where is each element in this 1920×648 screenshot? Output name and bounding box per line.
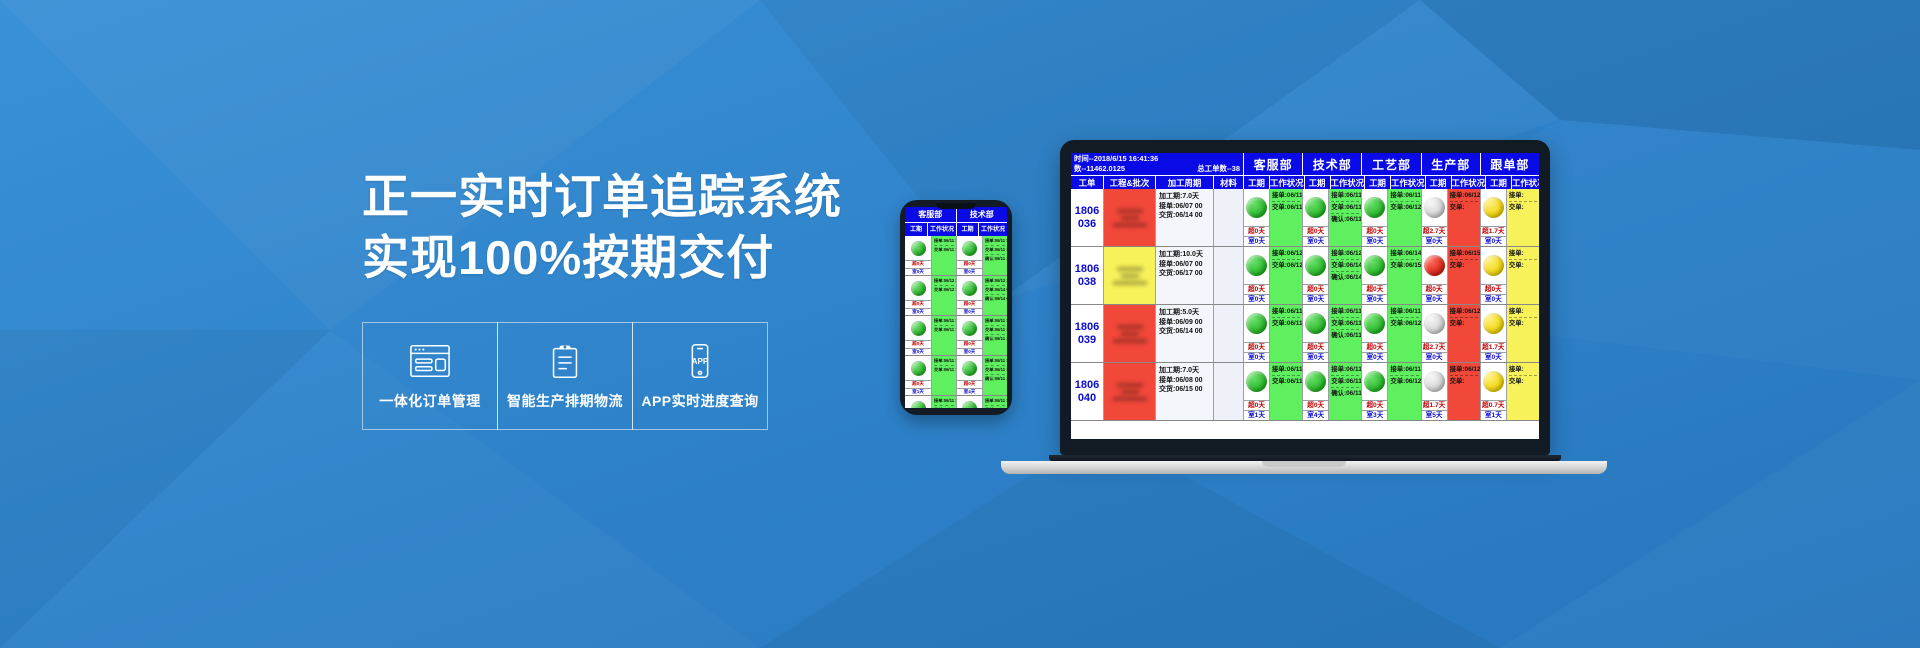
erp-title-row: 时间--2018/6/15 16:41:36 数--11462.0125 总工单… bbox=[1071, 153, 1539, 175]
status-cell-4[interactable]: 接单:交单: bbox=[1506, 247, 1539, 304]
qi-cell-0[interactable]: 超0天室1天 bbox=[1243, 363, 1269, 420]
order-number-cell[interactable]: 1806036 bbox=[1071, 189, 1103, 246]
status-lamp-gray[interactable] bbox=[1424, 197, 1445, 218]
status-cell-3[interactable]: 接单:06/12 09交单: bbox=[1447, 189, 1480, 246]
order-number-cell[interactable]: 1806039 bbox=[1071, 305, 1103, 362]
lamp-wrap bbox=[905, 236, 931, 260]
status-line-1: 交单:06/12 09 bbox=[1390, 377, 1418, 387]
cycle-line-2: 交货:06/17 00 bbox=[1159, 269, 1211, 279]
status-line-0: 接单:06/11 17 bbox=[1390, 307, 1418, 318]
overdue-tag: 超0天 bbox=[957, 260, 982, 268]
col-status-4: 工作状况 bbox=[1511, 176, 1539, 189]
status-line-1: 交单:06/11 17 bbox=[985, 367, 1005, 375]
qi-cell-2[interactable]: 超0天室3天 bbox=[1361, 363, 1387, 420]
status-line-0: 接单:06/11 17 bbox=[1331, 365, 1359, 376]
qi-cell-0[interactable]: 超0天室0天 bbox=[905, 396, 931, 408]
status-line-1: 交单:06/14 08 bbox=[1331, 261, 1359, 272]
table-row: 超0天室0天接单:06/11 17交单:06/11 17超0天室0天接单:06/… bbox=[905, 396, 1007, 408]
status-cell-0[interactable]: 接单:06/12 20交单:06/12 20 bbox=[1269, 247, 1302, 304]
overdue-tag: 超0天 bbox=[957, 340, 982, 348]
lamp-wrap bbox=[1481, 305, 1506, 342]
remaining-tag: 室0天 bbox=[1244, 352, 1269, 362]
phone-body: 客服部 技术部 工期 工作状况 工期 工作状况 超0天室0天接单:06/11 1… bbox=[900, 200, 1012, 415]
order-number-top: 1806 bbox=[1075, 379, 1099, 392]
order-number-cell[interactable]: 1806038 bbox=[1071, 247, 1103, 304]
overdue-tag: 超0天 bbox=[1244, 342, 1269, 352]
status-line-1: 交单:06/12 09 bbox=[1390, 319, 1418, 329]
status-lamp-green[interactable] bbox=[911, 361, 926, 376]
status-line-0: 接单:06/11 17 bbox=[1390, 191, 1418, 202]
overdue-tag: 超0天 bbox=[1362, 342, 1387, 352]
status-lamp-green[interactable] bbox=[1364, 255, 1385, 276]
status-cell-1[interactable]: 接单:06/12 20交单:06/14 08确认:06/14 08 bbox=[982, 276, 1007, 315]
status-cell-2[interactable]: 接单:06/14 08交单:06/15 16 bbox=[1387, 247, 1420, 304]
status-line-1: 交单:06/11 17 bbox=[1272, 377, 1300, 387]
dept-header-technology[interactable]: 技术部 bbox=[1302, 153, 1361, 175]
status-lamp-green[interactable] bbox=[1364, 197, 1385, 218]
qi-cell-0[interactable]: 超0天室0天 bbox=[905, 316, 931, 355]
qi-cell-4[interactable]: 超1.7天室0天 bbox=[1480, 305, 1506, 362]
col-qi-1: 工期 bbox=[1304, 176, 1330, 189]
status-line-1: 交单:06/11 17 bbox=[934, 367, 954, 374]
qi-cell-2[interactable]: 超0天室0天 bbox=[1361, 305, 1387, 362]
phone-dept-0[interactable]: 客服部 bbox=[905, 207, 956, 222]
lamp-wrap bbox=[1362, 363, 1387, 400]
cycle-line-0: 加工期:7.0天 bbox=[1159, 366, 1211, 376]
col-order: 工单 bbox=[1071, 176, 1103, 189]
status-line-1: 交单:06/11 17 bbox=[1272, 203, 1300, 213]
status-cell-2[interactable]: 接单:06/11 17交单:06/12 09 bbox=[1387, 363, 1420, 420]
status-line-1: 交单:06/11 17 bbox=[1272, 319, 1300, 329]
remaining-tag: 室0天 bbox=[1244, 236, 1269, 246]
qi-cell-2[interactable]: 超0天室0天 bbox=[1361, 247, 1387, 304]
project-batch-cell[interactable] bbox=[1103, 247, 1155, 304]
lamp-wrap bbox=[1422, 305, 1447, 342]
remaining-tag: 室0天 bbox=[957, 308, 982, 316]
status-line-1: 交单: bbox=[1509, 261, 1537, 271]
qi-cell-3[interactable]: 超0天室0天 bbox=[1421, 247, 1447, 304]
overdue-tag: 超0天 bbox=[905, 300, 931, 308]
status-lamp-yellow[interactable] bbox=[1483, 313, 1504, 334]
col-project: 工程&批次 bbox=[1103, 176, 1155, 189]
remaining-tag: 室0天 bbox=[1481, 236, 1506, 246]
phone-col-qi-0: 工期 bbox=[905, 223, 927, 236]
status-line-1: 交单:06/11 17 bbox=[934, 407, 954, 408]
page-title-line2: 实现100%按期交付 bbox=[362, 227, 922, 288]
material-cell[interactable] bbox=[1213, 363, 1243, 420]
status-line-1: 交单:06/11 17 bbox=[985, 327, 1005, 335]
status-cell-1[interactable]: 接单:06/11 17交单:06/11 17确认:06/11 17 bbox=[982, 356, 1007, 395]
status-line-1: 交单: bbox=[1450, 319, 1478, 329]
lamp-wrap bbox=[957, 276, 982, 300]
lamp-wrap bbox=[1481, 189, 1506, 226]
overdue-tag: 超0天 bbox=[1362, 400, 1387, 410]
clipboard-icon bbox=[544, 341, 586, 381]
hero-banner: 正一实时订单追踪系统 实现100%按期交付 一体化订单管理 bbox=[0, 0, 1920, 648]
qi-cell-3[interactable]: 超2.7天室0天 bbox=[1421, 305, 1447, 362]
status-cell-1[interactable]: 接单:06/12 20交单:06/14 08确认:06/14 08 bbox=[1328, 247, 1361, 304]
erp-total-orders-label: 总工单数--38 bbox=[1197, 164, 1240, 174]
erp-counter-label: 数--11462.0125 bbox=[1074, 164, 1125, 174]
qi-cell-1[interactable]: 超0天室0天 bbox=[1302, 189, 1328, 246]
status-line-1: 交单:06/12 20 bbox=[1272, 261, 1300, 271]
cycle-line-1: 接单:06/09 00 bbox=[1159, 318, 1211, 328]
col-material: 材料 bbox=[1213, 176, 1243, 189]
lamp-wrap bbox=[957, 396, 982, 408]
status-line-1: 交单:06/15 16 bbox=[1390, 261, 1418, 271]
qi-cell-1[interactable]: 超0天室0天 bbox=[956, 316, 982, 355]
status-line-0: 接单:06/14 08 bbox=[1390, 249, 1418, 260]
lamp-wrap bbox=[1362, 305, 1387, 342]
remaining-tag: 室1天 bbox=[905, 388, 931, 396]
order-number-bottom: 038 bbox=[1078, 276, 1096, 289]
cycle-line-0: 加工期:10.0天 bbox=[1159, 250, 1211, 260]
status-cell-1[interactable]: 接单:06/11 17交单:06/11 17确认:06/11 17 bbox=[1328, 363, 1361, 420]
qi-cell-2[interactable]: 超0天室0天 bbox=[1361, 189, 1387, 246]
erp-column-row: 工单 工程&批次 加工周期 材料 工期 工作状况 工期 工作状况 工期 工作状况 bbox=[1071, 175, 1539, 189]
feature-list: 一体化订单管理 智能生产排期物流 APP bbox=[362, 322, 922, 430]
status-lamp-gray[interactable] bbox=[1424, 313, 1445, 334]
qi-cell-1[interactable]: 超0天室0天 bbox=[956, 396, 982, 408]
status-line-2: 确认:06/14 08 bbox=[985, 296, 1005, 303]
status-lamp-green[interactable] bbox=[962, 361, 977, 376]
project-batch-cell[interactable] bbox=[1103, 363, 1155, 420]
feature-item-smart-scheduling[interactable]: 智能生产排期物流 bbox=[497, 322, 633, 430]
status-lamp-red[interactable] bbox=[1424, 255, 1445, 276]
order-number-cell[interactable]: 1806040 bbox=[1071, 363, 1103, 420]
col-qi-0: 工期 bbox=[1243, 176, 1269, 189]
remaining-tag: 室0天 bbox=[905, 308, 931, 316]
table-row: 1806036加工期:7.0天接单:06/07 00交货:06/14 00超0天… bbox=[1071, 189, 1539, 247]
status-lamp-green[interactable] bbox=[1246, 313, 1267, 334]
erp-meta-block: 时间--2018/6/15 16:41:36 数--11462.0125 总工单… bbox=[1071, 153, 1243, 175]
phone-col-status-1: 工作状况 bbox=[978, 223, 1007, 236]
lamp-wrap bbox=[1244, 247, 1269, 284]
status-line-0: 接单:06/11 17 bbox=[934, 358, 954, 366]
remaining-tag: 室1天 bbox=[1244, 410, 1269, 420]
status-cell-0[interactable]: 接单:06/12 20交单:06/12 20 bbox=[931, 276, 956, 315]
status-lamp-gray[interactable] bbox=[1424, 371, 1445, 392]
redacted-project-text bbox=[1104, 363, 1155, 420]
qi-cell-1[interactable]: 超0天室0天 bbox=[956, 236, 982, 275]
cycle-line-2: 交货:06/14 00 bbox=[1159, 327, 1211, 337]
feature-label: APP实时进度查询 bbox=[641, 391, 758, 411]
status-lamp-yellow[interactable] bbox=[1483, 371, 1504, 392]
remaining-tag: 室0天 bbox=[957, 268, 982, 276]
remaining-tag: 室0天 bbox=[1481, 294, 1506, 304]
status-cell-0[interactable]: 接单:06/11 17交单:06/11 17 bbox=[931, 236, 956, 275]
remaining-tag: 室4天 bbox=[957, 388, 982, 396]
erp-grid: 时间--2018/6/15 16:41:36 数--11462.0125 总工单… bbox=[1071, 153, 1539, 439]
dept-header-production[interactable]: 生产部 bbox=[1421, 153, 1480, 175]
phone-erp-header: 客服部 技术部 工期 工作状况 工期 工作状况 bbox=[905, 207, 1007, 236]
cycle-info-cell: 加工期:10.0天接单:06/07 00交货:06/17 00 bbox=[1155, 247, 1213, 304]
lamp-wrap bbox=[1362, 189, 1387, 226]
qi-cell-1[interactable]: 超0天室0天 bbox=[956, 276, 982, 315]
cycle-info-cell: 加工期:7.0天接单:06/08 00交货:06/15 00 bbox=[1155, 363, 1213, 420]
lamp-wrap bbox=[1362, 247, 1387, 284]
status-lamp-green[interactable] bbox=[962, 241, 977, 256]
status-line-1: 交单:06/11 17 bbox=[1331, 203, 1359, 214]
overdue-tag: 超0天 bbox=[1303, 400, 1328, 410]
status-cell-1[interactable]: 接单:06/11 17交单:06/11 17确认:06/11 17 bbox=[1328, 305, 1361, 362]
status-cell-0[interactable]: 接单:06/11 17交单:06/11 17 bbox=[1269, 189, 1302, 246]
order-number-bottom: 039 bbox=[1078, 334, 1096, 347]
status-lamp-green[interactable] bbox=[1305, 313, 1326, 334]
status-line-1: 交单:06/12 09 bbox=[1390, 203, 1418, 213]
remaining-tag: 室0天 bbox=[905, 348, 931, 356]
phone-screen[interactable]: 客服部 技术部 工期 工作状况 工期 工作状况 超0天室0天接单:06/11 1… bbox=[905, 207, 1007, 408]
qi-cell-0[interactable]: 超0天室0天 bbox=[1243, 247, 1269, 304]
col-status-0: 工作状况 bbox=[1269, 176, 1304, 189]
redacted-project-text bbox=[1104, 247, 1155, 304]
cycle-line-0: 加工期:5.0天 bbox=[1159, 308, 1211, 318]
status-cell-2[interactable]: 接单:06/11 17交单:06/12 09 bbox=[1387, 305, 1420, 362]
status-lamp-green[interactable] bbox=[1246, 255, 1267, 276]
status-line-0: 接单:06/11 17 bbox=[1331, 191, 1359, 202]
qi-cell-4[interactable]: 超0.7天室1天 bbox=[1480, 363, 1506, 420]
dept-header-merchandising[interactable]: 跟单部 bbox=[1480, 153, 1539, 175]
status-line-0: 接单:06/11 17 bbox=[1390, 365, 1418, 376]
lamp-wrap bbox=[1303, 305, 1328, 342]
overdue-tag: 超0天 bbox=[1244, 284, 1269, 294]
remaining-tag: 室1天 bbox=[1481, 410, 1506, 420]
laptop-base bbox=[1001, 461, 1607, 474]
material-cell[interactable] bbox=[1213, 247, 1243, 304]
overdue-tag: 超0天 bbox=[1244, 400, 1269, 410]
status-line-2: 确认:06/11 17 bbox=[1331, 331, 1359, 341]
remaining-tag: 室0天 bbox=[1303, 294, 1328, 304]
status-cell-0[interactable]: 接单:06/11 17交单:06/11 17 bbox=[1269, 305, 1302, 362]
dept-header-customer-service[interactable]: 客服部 bbox=[1243, 153, 1302, 175]
project-batch-cell[interactable] bbox=[1103, 305, 1155, 362]
lamp-wrap bbox=[1422, 247, 1447, 284]
qi-cell-0[interactable]: 超0天室0天 bbox=[905, 276, 931, 315]
material-cell[interactable] bbox=[1213, 189, 1243, 246]
table-row: 1806039加工期:5.0天接单:06/09 00交货:06/14 00超0天… bbox=[1071, 305, 1539, 363]
status-lamp-green[interactable] bbox=[1364, 371, 1385, 392]
status-cell-0[interactable]: 接单:06/11 17交单:06/11 17 bbox=[931, 356, 956, 395]
qi-cell-1[interactable]: 超0天室4天 bbox=[956, 356, 982, 395]
dashboard-icon bbox=[409, 341, 451, 381]
remaining-tag: 室0天 bbox=[957, 348, 982, 356]
status-lamp-green[interactable] bbox=[1305, 255, 1326, 276]
redacted-project-text bbox=[1104, 305, 1155, 362]
status-cell-1[interactable]: 接单:06/11 17交单:06/11 17确认:06/11 17 bbox=[982, 236, 1007, 275]
status-line-0: 接单:06/11 17 bbox=[934, 318, 954, 326]
status-lamp-green[interactable] bbox=[1305, 371, 1326, 392]
status-line-0: 接单:06/12 09 bbox=[1450, 365, 1478, 376]
status-cell-1[interactable]: 接单:06/11 17交单:06/11 17确认:06/11 17 bbox=[982, 316, 1007, 355]
status-line-1: 交单:06/12 20 bbox=[934, 287, 954, 294]
lamp-wrap bbox=[905, 316, 931, 340]
overdue-tag: 超0天 bbox=[905, 340, 931, 348]
status-lamp-green[interactable] bbox=[962, 321, 977, 336]
phone-erp-body[interactable]: 超0天室0天接单:06/11 17交单:06/11 17超0天室0天接单:06/… bbox=[905, 236, 1007, 408]
overdue-tag: 超0天 bbox=[1481, 284, 1506, 294]
status-lamp-green[interactable] bbox=[911, 241, 926, 256]
remaining-tag: 室0天 bbox=[1362, 352, 1387, 362]
status-line-0: 接单:06/12 20 bbox=[934, 278, 954, 286]
status-line-2: 确认:06/14 08 bbox=[1331, 273, 1359, 283]
overdue-tag: 超0天 bbox=[1422, 284, 1447, 294]
overdue-tag: 超2.7天 bbox=[1422, 226, 1447, 236]
status-line-0: 接单: bbox=[1509, 307, 1537, 318]
laptop-lid: 时间--2018/6/15 16:41:36 数--11462.0125 总工单… bbox=[1060, 140, 1550, 455]
remaining-tag: 室0天 bbox=[1362, 294, 1387, 304]
table-row: 1806038加工期:10.0天接单:06/07 00交货:06/17 00超0… bbox=[1071, 247, 1539, 305]
lamp-wrap bbox=[1422, 189, 1447, 226]
status-line-2: 确认:06/11 17 bbox=[985, 376, 1005, 383]
status-line-2: 确认:06/11 17 bbox=[985, 256, 1005, 263]
status-lamp-yellow[interactable] bbox=[1483, 197, 1504, 218]
status-cell-1[interactable]: 接单:06/11 17交单:06/11 17确认:06/11 17 bbox=[1328, 189, 1361, 246]
col-qi-3: 工期 bbox=[1425, 176, 1451, 189]
status-lamp-green[interactable] bbox=[1364, 313, 1385, 334]
lamp-wrap bbox=[957, 316, 982, 340]
dept-header-process[interactable]: 工艺部 bbox=[1361, 153, 1420, 175]
col-qi-4: 工期 bbox=[1485, 176, 1511, 189]
status-line-0: 接单:06/11 17 bbox=[934, 238, 954, 246]
project-batch-cell[interactable] bbox=[1103, 189, 1155, 246]
lamp-wrap bbox=[957, 356, 982, 380]
laptop-screen[interactable]: 时间--2018/6/15 16:41:36 数--11462.0125 总工单… bbox=[1071, 153, 1539, 439]
status-line-0: 接单:06/12 09 bbox=[1450, 307, 1478, 318]
phone-col-status-0: 工作状况 bbox=[927, 223, 956, 236]
lamp-wrap bbox=[905, 356, 931, 380]
hero-copy: 正一实时订单追踪系统 实现100%按期交付 一体化订单管理 bbox=[362, 166, 922, 430]
qi-cell-4[interactable]: 超0天室0天 bbox=[1480, 247, 1506, 304]
status-line-0: 接单:06/11 17 bbox=[985, 318, 1005, 326]
qi-cell-3[interactable]: 超1.7天室5天 bbox=[1421, 363, 1447, 420]
order-number-top: 1806 bbox=[1075, 205, 1099, 218]
status-lamp-green[interactable] bbox=[962, 281, 977, 296]
overdue-tag: 超0天 bbox=[1362, 284, 1387, 294]
erp-body[interactable]: 1806036加工期:7.0天接单:06/07 00交货:06/14 00超0天… bbox=[1071, 189, 1539, 439]
lamp-wrap bbox=[1303, 363, 1328, 400]
status-line-1: 交单:06/11 17 bbox=[1331, 377, 1359, 388]
status-cell-0[interactable]: 接单:06/11 17交单:06/11 17 bbox=[931, 396, 956, 408]
remaining-tag: 室0天 bbox=[1244, 294, 1269, 304]
lamp-wrap bbox=[1244, 363, 1269, 400]
qi-cell-1[interactable]: 超0天室4天 bbox=[1302, 363, 1328, 420]
qi-cell-1[interactable]: 超0天室0天 bbox=[1302, 247, 1328, 304]
status-cell-3[interactable]: 接单:06/12 09交单: bbox=[1447, 363, 1480, 420]
status-line-0: 接单:06/12 20 bbox=[1331, 249, 1359, 260]
status-cell-4[interactable]: 接单:交单: bbox=[1506, 305, 1539, 362]
phone-dept-1[interactable]: 技术部 bbox=[956, 207, 1008, 222]
cycle-line-1: 接单:06/07 00 bbox=[1159, 202, 1211, 212]
qi-cell-0[interactable]: 超0天室0天 bbox=[905, 236, 931, 275]
remaining-tag: 室3天 bbox=[1362, 410, 1387, 420]
phone-mockup: 客服部 技术部 工期 工作状况 工期 工作状况 超0天室0天接单:06/11 1… bbox=[900, 200, 1012, 415]
material-cell[interactable] bbox=[1213, 305, 1243, 362]
status-line-1: 交单: bbox=[1450, 203, 1478, 213]
overdue-tag: 超1.7天 bbox=[1422, 400, 1447, 410]
qi-cell-0[interactable]: 超0天室1天 bbox=[905, 356, 931, 395]
table-row: 超0天室1天接单:06/11 17交单:06/11 17超0天室4天接单:06/… bbox=[905, 356, 1007, 396]
lamp-wrap bbox=[1303, 247, 1328, 284]
lamp-wrap bbox=[1422, 363, 1447, 400]
overdue-tag: 超0天 bbox=[1303, 342, 1328, 352]
cycle-line-0: 加工期:7.0天 bbox=[1159, 192, 1211, 202]
status-line-1: 交单: bbox=[1509, 377, 1537, 387]
remaining-tag: 室0天 bbox=[1303, 352, 1328, 362]
status-cell-4[interactable]: 接单:交单: bbox=[1506, 363, 1539, 420]
remaining-tag: 室0天 bbox=[1422, 236, 1447, 246]
status-cell-3[interactable]: 接单:06/15 16交单: bbox=[1447, 247, 1480, 304]
remaining-tag: 室0天 bbox=[1422, 294, 1447, 304]
qi-cell-4[interactable]: 超1.7天室0天 bbox=[1480, 189, 1506, 246]
status-line-1: 交单: bbox=[1450, 261, 1478, 271]
status-cell-0[interactable]: 接单:06/11 17交单:06/11 17 bbox=[931, 316, 956, 355]
status-line-0: 接单: bbox=[1509, 249, 1537, 260]
remaining-tag: 室4天 bbox=[1303, 410, 1328, 420]
lamp-wrap bbox=[905, 396, 931, 408]
status-lamp-green[interactable] bbox=[1246, 197, 1267, 218]
status-cell-4[interactable]: 接单:交单: bbox=[1506, 189, 1539, 246]
status-cell-3[interactable]: 接单:06/12 09交单: bbox=[1447, 305, 1480, 362]
feature-item-order-management[interactable]: 一体化订单管理 bbox=[362, 322, 498, 430]
status-cell-2[interactable]: 接单:06/11 17交单:06/12 09 bbox=[1387, 189, 1420, 246]
status-line-0: 接单:06/11 17 bbox=[1272, 307, 1300, 318]
overdue-tag: 超0天 bbox=[957, 380, 982, 388]
status-line-1: 交单: bbox=[1450, 377, 1478, 387]
status-lamp-green[interactable] bbox=[911, 281, 926, 296]
overdue-tag: 超0天 bbox=[905, 380, 931, 388]
feature-item-app-tracking[interactable]: APP APP实时进度查询 bbox=[632, 322, 768, 430]
phone-notch bbox=[936, 203, 976, 209]
overdue-tag: 超0天 bbox=[957, 300, 982, 308]
qi-cell-0[interactable]: 超0天室0天 bbox=[1243, 305, 1269, 362]
overdue-tag: 超0天 bbox=[1362, 226, 1387, 236]
cycle-info-cell: 加工期:7.0天接单:06/07 00交货:06/14 00 bbox=[1155, 189, 1213, 246]
remaining-tag: 室0天 bbox=[1303, 236, 1328, 246]
status-cell-0[interactable]: 接单:06/11 17交单:06/11 17 bbox=[1269, 363, 1302, 420]
status-line-0: 接单:06/15 16 bbox=[1450, 249, 1478, 260]
erp-header: 时间--2018/6/15 16:41:36 数--11462.0125 总工单… bbox=[1071, 153, 1539, 189]
status-lamp-green[interactable] bbox=[911, 321, 926, 336]
lamp-wrap bbox=[1303, 189, 1328, 226]
status-line-0: 接单: bbox=[1509, 365, 1537, 376]
lamp-wrap bbox=[1481, 247, 1506, 284]
status-lamp-green[interactable] bbox=[911, 401, 926, 409]
order-number-bottom: 040 bbox=[1078, 392, 1096, 405]
status-lamp-green[interactable] bbox=[1305, 197, 1326, 218]
overdue-tag: 超2.7天 bbox=[1422, 342, 1447, 352]
qi-cell-3[interactable]: 超2.7天室0天 bbox=[1421, 189, 1447, 246]
lamp-wrap bbox=[1244, 305, 1269, 342]
table-row: 超0天室0天接单:06/12 20交单:06/12 20超0天室0天接单:06/… bbox=[905, 276, 1007, 316]
qi-cell-0[interactable]: 超0天室0天 bbox=[1243, 189, 1269, 246]
status-line-1: 交单: bbox=[1509, 319, 1537, 329]
status-line-0: 接单:06/11 17 bbox=[934, 398, 954, 406]
table-row: 1806040加工期:7.0天接单:06/08 00交货:06/15 00超0天… bbox=[1071, 363, 1539, 421]
status-line-1: 交单:06/11 17 bbox=[934, 327, 954, 334]
status-lamp-yellow[interactable] bbox=[1483, 255, 1504, 276]
overdue-tag: 超1.7天 bbox=[1481, 342, 1506, 352]
order-number-top: 1806 bbox=[1075, 321, 1099, 334]
qi-cell-1[interactable]: 超0天室0天 bbox=[1302, 305, 1328, 362]
cycle-line-1: 接单:06/08 00 bbox=[1159, 376, 1211, 386]
status-line-0: 接单:06/11 17 bbox=[985, 358, 1005, 366]
status-line-1: 交单:06/14 08 bbox=[985, 287, 1005, 295]
status-line-0: 接单: bbox=[1509, 191, 1537, 202]
status-cell-1[interactable]: 接单:06/11 17交单:06/11 17确认:06/11 17 bbox=[982, 396, 1007, 408]
status-lamp-green[interactable] bbox=[1246, 371, 1267, 392]
feature-label: 一体化订单管理 bbox=[379, 391, 481, 411]
status-lamp-green[interactable] bbox=[962, 401, 977, 409]
